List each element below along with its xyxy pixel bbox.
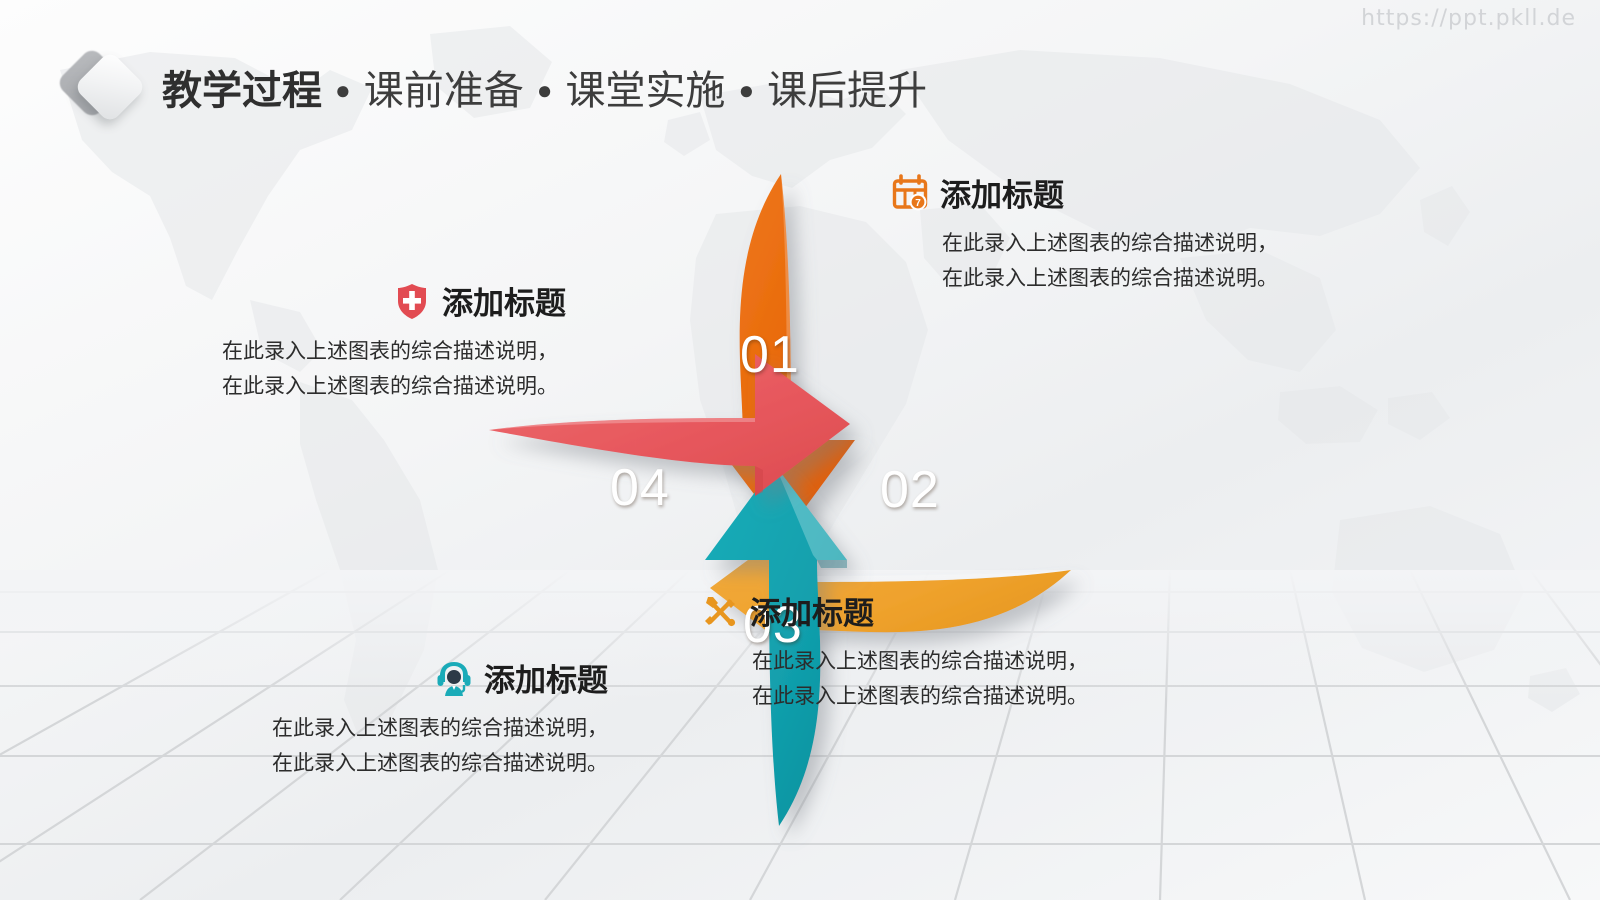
slide-header: 教学过程●课前准备●课堂实施●课后提升 — [58, 44, 927, 130]
callout-03-head: 添加标题 — [272, 655, 608, 700]
callout-03-body-line-2: 在此录入上述图表的综合描述说明。 — [272, 747, 608, 782]
callout-04-body-line-1: 在此录入上述图表的综合描述说明， — [222, 335, 558, 370]
callout-03-body-line-1: 在此录入上述图表的综合描述说明， — [272, 712, 608, 747]
callout-04-title: 添加标题 — [442, 278, 566, 323]
blade-number-04: 04 — [610, 458, 670, 518]
page-title: 教学过程●课前准备●课堂实施●课后提升 — [162, 58, 927, 116]
shield-icon — [392, 281, 432, 321]
callout-02-body: 在此录入上述图表的综合描述说明， 在此录入上述图表的综合描述说明。 — [752, 645, 1088, 714]
callout-04-body-line-2: 在此录入上述图表的综合描述说明。 — [222, 370, 558, 405]
headset-support-icon — [434, 658, 474, 698]
callout-03-title: 添加标题 — [484, 655, 608, 700]
callout-block-02: 添加标题 在此录入上述图表的综合描述说明， 在此录入上述图表的综合描述说明。 — [700, 588, 1088, 714]
callout-block-01: 7 添加标题 在此录入上述图表的综合描述说明， 在此录入上述图表的综合描述说明。 — [890, 170, 1278, 296]
callout-02-head: 添加标题 — [700, 588, 1088, 633]
callout-01-body-line-1: 在此录入上述图表的综合描述说明， — [942, 227, 1278, 262]
title-separator-1: ● — [335, 75, 351, 106]
tools-icon — [700, 591, 740, 631]
callout-01-body: 在此录入上述图表的综合描述说明， 在此录入上述图表的综合描述说明。 — [942, 227, 1278, 296]
calendar-icon: 7 — [890, 173, 930, 213]
callout-01-title: 添加标题 — [940, 170, 1064, 215]
blade-number-01: 01 — [740, 325, 800, 385]
page-title-strong: 教学过程 — [162, 69, 322, 113]
watermark-url: https://ppt.pkll.de — [1361, 6, 1576, 31]
page-title-part-3: 课堂实施 — [565, 69, 725, 113]
title-separator-3: ● — [738, 75, 754, 106]
callout-02-body-line-1: 在此录入上述图表的综合描述说明， — [752, 645, 1088, 680]
title-separator-2: ● — [537, 75, 553, 106]
callout-02-title: 添加标题 — [750, 588, 874, 633]
blade-number-02: 02 — [880, 460, 940, 520]
callout-block-03: 添加标题 在此录入上述图表的综合描述说明， 在此录入上述图表的综合描述说明。 — [272, 655, 608, 781]
callout-02-body-line-2: 在此录入上述图表的综合描述说明。 — [752, 680, 1088, 715]
callout-03-body: 在此录入上述图表的综合描述说明， 在此录入上述图表的综合描述说明。 — [272, 712, 608, 781]
slide-canvas: https://ppt.pkll.de 教学过程●课前准备●课堂实施●课后提升 — [0, 0, 1600, 900]
callout-block-04: 添加标题 在此录入上述图表的综合描述说明， 在此录入上述图表的综合描述说明。 — [222, 278, 566, 404]
callout-01-body-line-2: 在此录入上述图表的综合描述说明。 — [942, 262, 1278, 297]
callout-04-head: 添加标题 — [222, 278, 566, 323]
page-title-part-4: 课后提升 — [767, 69, 927, 113]
diamond-logo-icon — [58, 41, 154, 133]
callout-04-body: 在此录入上述图表的综合描述说明， 在此录入上述图表的综合描述说明。 — [222, 335, 558, 404]
page-title-part-2: 课前准备 — [364, 69, 524, 113]
callout-01-head: 7 添加标题 — [890, 170, 1278, 215]
svg-text:7: 7 — [915, 198, 921, 209]
